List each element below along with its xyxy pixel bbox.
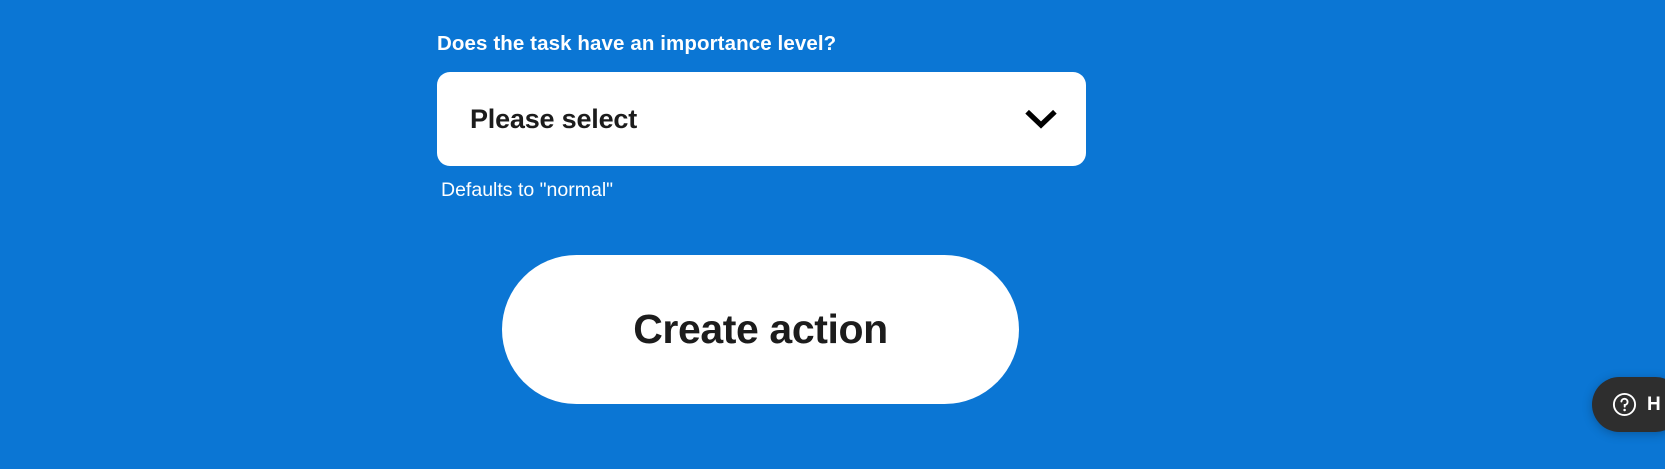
page-root: Does the task have an importance level? … [0,0,1665,469]
chevron-down-icon [1024,102,1058,136]
help-widget-label: H [1647,394,1661,416]
importance-level-select-value: Please select [470,72,637,166]
question-mark-circle-icon [1612,392,1637,417]
create-action-button[interactable]: Create action [502,255,1019,404]
question-label: Does the task have an importance level? [437,30,836,58]
help-widget[interactable]: H [1592,377,1665,432]
importance-level-select[interactable]: Please select [437,72,1086,166]
helper-text: Defaults to "normal" [441,176,613,204]
